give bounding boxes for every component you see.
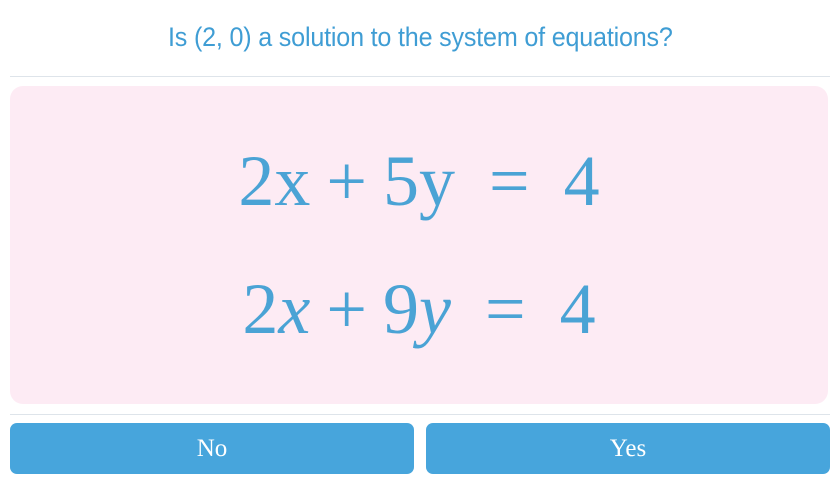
- equation-2-variable-1: x: [278, 273, 310, 345]
- equation-1-coefficient-1: 2: [238, 145, 274, 217]
- equation-2-operator: +: [310, 273, 383, 345]
- equation-list: 2x + 5y = 4 2x + 9y = 4: [238, 145, 599, 345]
- question-header: Is (2, 0) a solution to the system of eq…: [0, 0, 840, 76]
- page-title: Is (2, 0) a solution to the system of eq…: [168, 23, 673, 53]
- equation-1-variable-2: y: [419, 145, 455, 217]
- equation-2-coefficient-2: 9: [383, 273, 419, 345]
- equation-2-relation: =: [451, 273, 538, 345]
- question-screen: Is (2, 0) a solution to the system of eq…: [0, 0, 840, 501]
- equation-2-variable-2: y: [419, 273, 451, 345]
- equation-1-right-side: 4: [542, 145, 600, 217]
- equation-row: 2x + 5y = 4: [238, 145, 599, 217]
- equation-1-operator: +: [310, 145, 383, 217]
- equation-row: 2x + 9y = 4: [242, 273, 595, 345]
- equation-panel: 2x + 5y = 4 2x + 9y = 4: [10, 86, 828, 404]
- answer-button-bar: No Yes: [10, 423, 830, 474]
- equation-1-variable-1: x: [274, 145, 310, 217]
- equation-1-relation: =: [455, 145, 542, 217]
- answer-yes-button[interactable]: Yes: [426, 423, 830, 474]
- equation-1-coefficient-2: 5: [383, 145, 419, 217]
- equation-2-right-side: 4: [538, 273, 596, 345]
- header-divider: [10, 76, 830, 77]
- answers-divider: [10, 414, 830, 415]
- answer-no-button[interactable]: No: [10, 423, 414, 474]
- equation-2-coefficient-1: 2: [242, 273, 278, 345]
